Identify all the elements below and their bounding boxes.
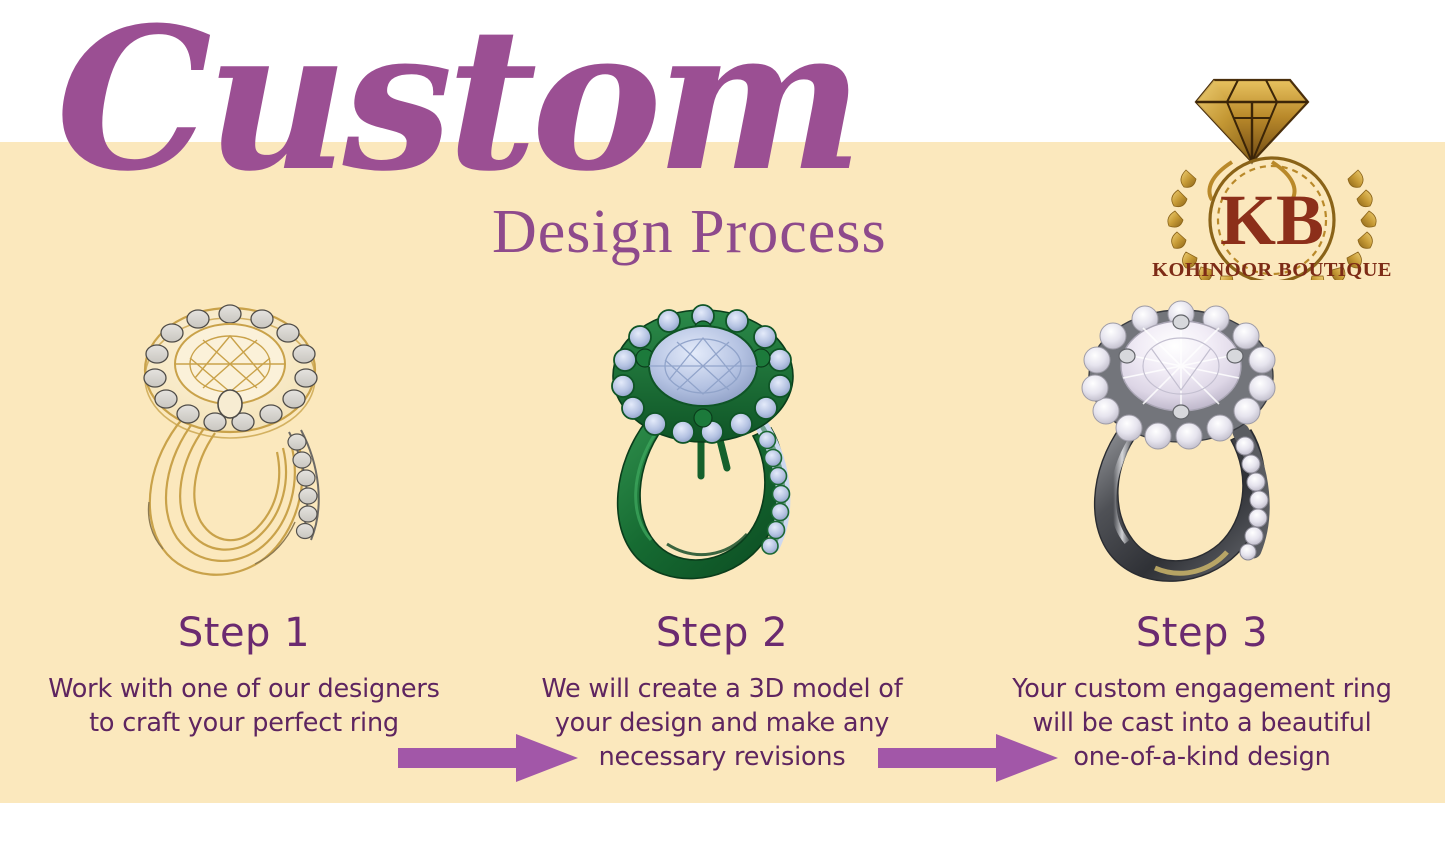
step-1-caption: Step 1 Work with one of our designers to… [8, 612, 480, 740]
page-title-serif: Design Process [492, 201, 887, 263]
step-3-description-line: Your custom engagement ring [966, 672, 1438, 706]
step-2-description-line: necessary revisions [486, 740, 958, 774]
title-script-text: Custom [56, 0, 858, 215]
logo-monogram: KB [1220, 180, 1324, 260]
step-1-image [105, 300, 405, 590]
step-1-title: Step 1 [8, 612, 480, 654]
step-1-description: Work with one of our designers to craft … [8, 672, 480, 740]
step-3-title: Step 3 [966, 612, 1438, 654]
step-2-caption: Step 2 We will create a 3D model of your… [486, 612, 958, 774]
step-3-description: Your custom engagement ring will be cast… [966, 672, 1438, 774]
step-2-description-line: We will create a 3D model of [486, 672, 958, 706]
infographic-canvas: Custom Design Process [0, 0, 1445, 849]
step-2-description-line: your design and make any [486, 706, 958, 740]
background-band-bottom [0, 803, 1445, 849]
step-3-description-line: one-of-a-kind design [966, 740, 1438, 774]
step-1-description-line: Work with one of our designers [8, 672, 480, 706]
step-3-caption: Step 3 Your custom engagement ring will … [966, 612, 1438, 774]
step-3-description-line: will be cast into a beautiful [966, 706, 1438, 740]
steps-illustration-row [0, 300, 1445, 590]
diamond-icon [1196, 80, 1308, 162]
brand-logo[interactable]: KB KOHINOOR BOUTIQUE [1148, 58, 1396, 280]
step-2-title: Step 2 [486, 612, 958, 654]
logo-brand-name: KOHINOOR BOUTIQUE [1152, 259, 1392, 280]
step-1-description-line: to craft your perfect ring [8, 706, 480, 740]
step-2-image [575, 300, 875, 590]
step-3-image [1055, 300, 1355, 590]
step-2-description: We will create a 3D model of your design… [486, 672, 958, 774]
page-title-script: Custom [52, 8, 692, 218]
